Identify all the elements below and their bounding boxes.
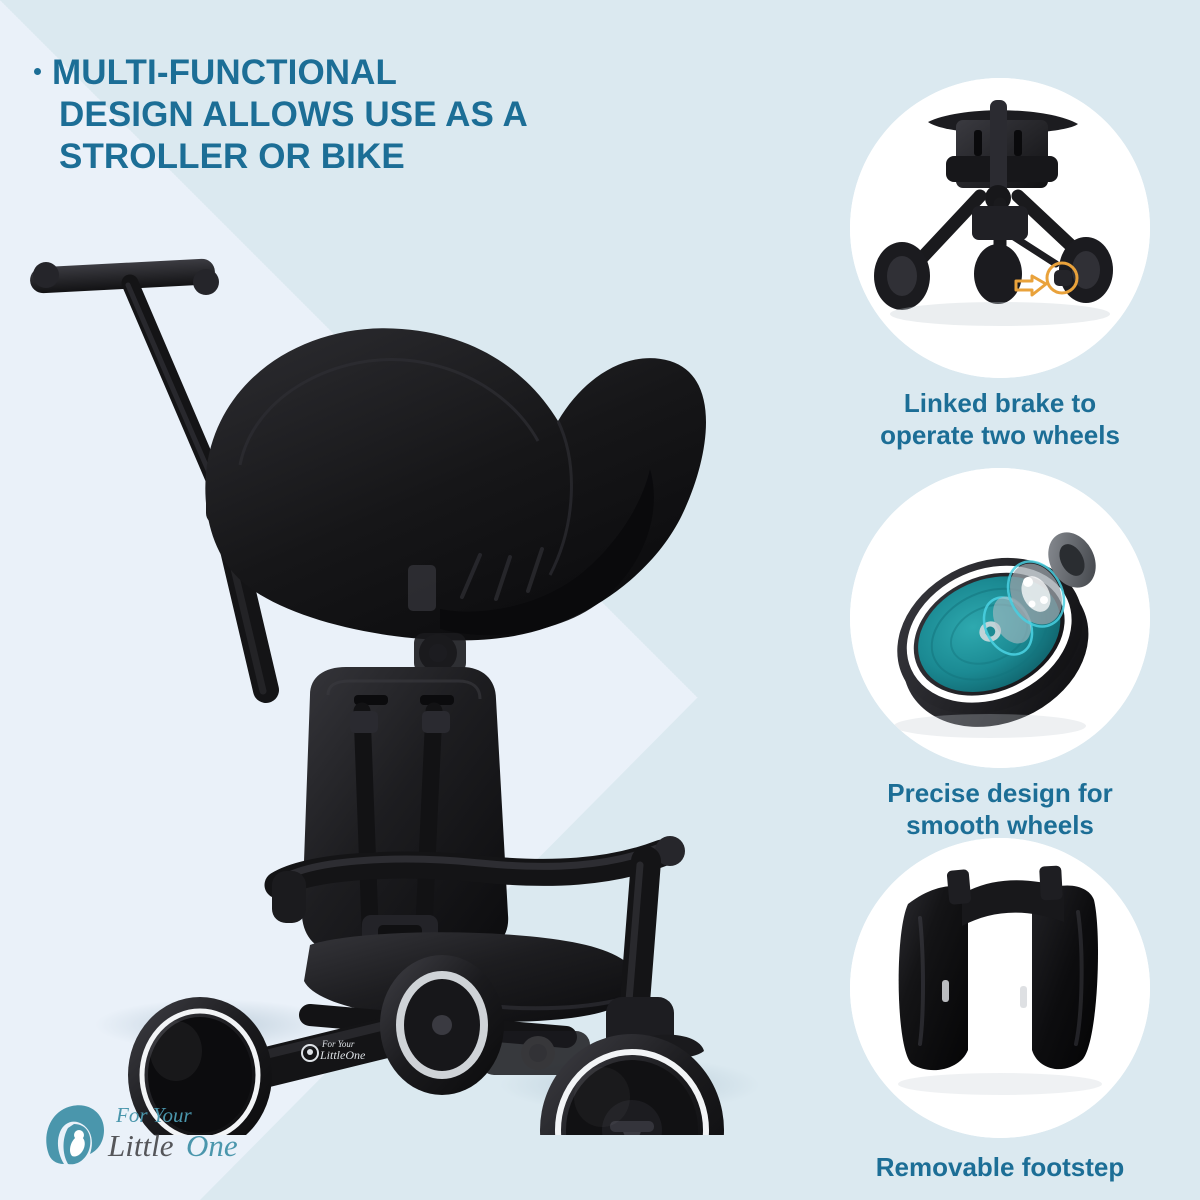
product-feature-graphic: MULTI-FUNCTIONAL DESIGN ALLOWS USE AS A … xyxy=(0,0,1200,1200)
feature-removable-footstep: Removable footstep xyxy=(830,838,1170,1184)
logo-line-2a: Little xyxy=(107,1128,174,1163)
headline-line-2: DESIGN ALLOWS USE AS A xyxy=(34,94,574,136)
headline: MULTI-FUNCTIONAL DESIGN ALLOWS USE AS A … xyxy=(34,52,574,178)
hero-product-image: For Your LittleOne xyxy=(10,225,770,1135)
rear-wheel-right xyxy=(380,955,504,1095)
headline-line-1: MULTI-FUNCTIONAL xyxy=(52,53,397,92)
logo-line-2b: One xyxy=(186,1128,238,1163)
bullet-icon xyxy=(34,68,41,75)
svg-text:LittleOne: LittleOne xyxy=(319,1048,366,1062)
feature-image-precise-wheels xyxy=(850,468,1150,768)
feature-caption-footstep: Removable footstep xyxy=(830,1152,1170,1184)
logo-line-1: For Your xyxy=(115,1103,193,1127)
feature-caption-precise-wheels: Precise design for smooth wheels xyxy=(830,778,1170,841)
feature-image-footstep xyxy=(850,838,1150,1138)
mother-and-child-icon xyxy=(46,1105,104,1164)
seat-back xyxy=(302,667,508,951)
brand-logo: For Your Little One xyxy=(34,1094,254,1180)
headline-line-3: STROLLER OR BIKE xyxy=(34,136,574,178)
feature-precise-wheels: Precise design for smooth wheels xyxy=(830,468,1170,841)
feature-linked-brake: Linked brake to operate two wheels xyxy=(830,78,1170,451)
canopy xyxy=(205,328,706,640)
feature-caption-linked-brake: Linked brake to operate two wheels xyxy=(830,388,1170,451)
feature-image-linked-brake xyxy=(850,78,1150,378)
